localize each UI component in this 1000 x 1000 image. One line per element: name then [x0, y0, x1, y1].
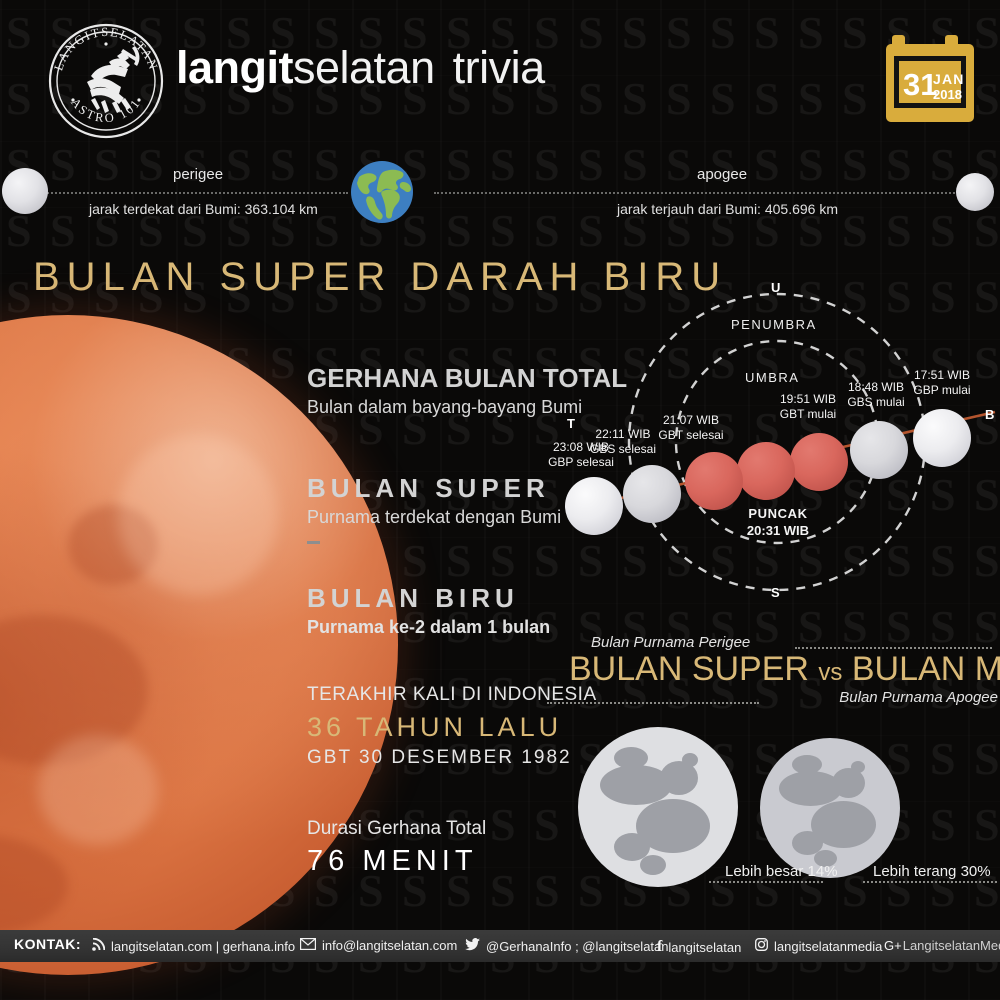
apogee-value: jarak terjauh dari Bumi: 405.696 km — [617, 201, 838, 217]
duration-label: Durasi Gerhana Total — [307, 818, 486, 840]
title-right: BULAN MINI — [852, 650, 1000, 688]
apogee-dotted-line — [434, 192, 982, 194]
perigee-value: jarak terdekat dari Bumi: 363.104 km — [89, 201, 318, 217]
peak-time: 20:31 WIB — [723, 522, 833, 539]
duration-value: 76 MENIT — [307, 845, 486, 878]
minimoon-disc — [760, 738, 900, 878]
stat-bright-dotted-line — [863, 881, 997, 883]
phase-card-gbt-mulai: 19:51 WIB GBT mulai — [753, 392, 863, 422]
phase-event: GBP selesai — [525, 455, 637, 470]
perigee-moon-icon — [2, 168, 48, 214]
eclipse-moon-gbp-selesai — [565, 477, 623, 535]
eclipse-moon-gbs-selesai — [623, 465, 681, 523]
footer-item-website[interactable]: langitselatan.com | gerhana.info — [92, 938, 295, 954]
calendar-icon: 31 JAN 2018 — [886, 33, 978, 133]
footer-item-facebook[interactable]: f langitselatan — [657, 938, 741, 956]
apogee-label: apogee — [697, 166, 747, 183]
footer-item-email[interactable]: info@langitselatan.com — [300, 938, 457, 953]
supermoon-disc — [578, 727, 738, 887]
phase-time: 23:08 WIB — [525, 440, 637, 455]
eclipse-moon-gbt-mulai — [790, 433, 848, 491]
super-vs-mini-title: BULAN SUPER vs BULAN MINI — [569, 650, 1000, 689]
eclipse-moon-gbs-mulai — [850, 421, 908, 479]
googleplus-icon: G+ — [884, 938, 902, 953]
langitselatan-logo: LANGITSELATAN ASTRO 101 — [47, 22, 165, 140]
stat-size-dotted-line — [709, 881, 823, 883]
brand-title: langitselatantrivia — [176, 42, 545, 94]
eclipse-moon-puncak — [737, 442, 795, 500]
super-vs-mini-section: Bulan Purnama Perigee BULAN SUPER vs BUL… — [545, 630, 1000, 905]
footer-item-text: langitselatan — [668, 940, 741, 955]
caption-perigee-dotted-line — [795, 647, 992, 649]
brand-bold: langit — [176, 42, 293, 93]
eclipse-path-diagram: U S T B PENUMBRA UMBRA 17:51 WIB GBP mul… — [545, 270, 1000, 615]
eclipse-moon-gbt-selesai — [685, 452, 743, 510]
eclipse-moon-gbp-mulai — [913, 409, 971, 467]
footer-item-text: @GerhanaInfo ; @langitselatan — [486, 939, 669, 954]
stat-bright-label: Lebih terang 30% — [873, 863, 991, 880]
phase-time: 21:07 WIB — [633, 413, 749, 428]
fact-block-blue-moon: BULAN BIRU Purnama ke-2 dalam 1 bulan — [307, 583, 550, 638]
footer-item-text: langitselatan.com | gerhana.info — [111, 939, 295, 954]
earth-globe-icon — [350, 160, 414, 224]
perigee-label: perigee — [173, 166, 223, 183]
axis-label-south: S — [771, 585, 780, 600]
axis-label-east: B — [985, 407, 994, 422]
instagram-icon — [755, 938, 768, 954]
phase-time: 19:51 WIB — [753, 392, 863, 407]
footer-item-googleplus[interactable]: G+ LangitselatanMedia — [884, 938, 1000, 953]
footer-item-text: info@langitselatan.com — [322, 938, 457, 953]
title-left: BULAN SUPER — [569, 650, 809, 688]
envelope-icon — [300, 938, 316, 953]
fact-block-super-moon: BULAN SUPER Purnama terdekat dengan Bumi — [307, 473, 561, 544]
peak-label: PUNCAK — [723, 505, 833, 522]
footer-item-twitter[interactable]: @GerhanaInfo ; @langitselatan — [465, 938, 669, 954]
phase-event: GBT mulai — [753, 407, 863, 422]
rss-icon — [92, 938, 105, 954]
brand-trivia: trivia — [453, 42, 545, 93]
zone-label-umbra: UMBRA — [745, 370, 799, 385]
infographic-canvas: S LANGITSELATAN ASTRO 101 — [0, 0, 1000, 1000]
fact-heading: BULAN BIRU — [307, 583, 550, 614]
contact-label: KONTAK: — [14, 936, 81, 952]
caption-apogee: Bulan Purnama Apogee — [839, 689, 998, 706]
facebook-icon: f — [657, 938, 662, 956]
duration-block: Durasi Gerhana Total 76 MENIT — [307, 818, 486, 878]
apogee-moon-icon — [956, 173, 994, 211]
title-vs: vs — [818, 659, 842, 686]
zone-label-penumbra: PENUMBRA — [731, 317, 817, 332]
footer-item-text: langitselatanmedia — [774, 939, 882, 954]
brand-light: selatan — [293, 42, 435, 93]
divider-dash — [307, 541, 320, 544]
perigee-dotted-line — [36, 192, 348, 194]
calendar-month: JAN — [933, 71, 965, 87]
phase-card-gbp-selesai: 23:08 WIB GBP selesai — [525, 440, 637, 470]
fact-sub: Purnama ke-2 dalam 1 bulan — [307, 617, 550, 638]
caption-apogee-dotted-line — [547, 702, 759, 704]
caption-perigee: Bulan Purnama Perigee — [591, 634, 750, 651]
twitter-icon — [465, 938, 480, 954]
stat-size-label: Lebih besar 14% — [725, 863, 838, 880]
fact-heading: BULAN SUPER — [307, 473, 561, 504]
axis-label-north: U — [771, 280, 780, 295]
phase-card-puncak: PUNCAK 20:31 WIB — [723, 505, 833, 539]
footer-item-text: LangitselatanMedia — [903, 938, 1000, 953]
calendar-year: 2018 — [933, 87, 962, 102]
svg-text:LANGITSELATAN: LANGITSELATAN — [51, 25, 160, 72]
footer-item-instagram[interactable]: langitselatanmedia — [755, 938, 882, 954]
fact-sub: Purnama terdekat dengan Bumi — [307, 507, 561, 528]
